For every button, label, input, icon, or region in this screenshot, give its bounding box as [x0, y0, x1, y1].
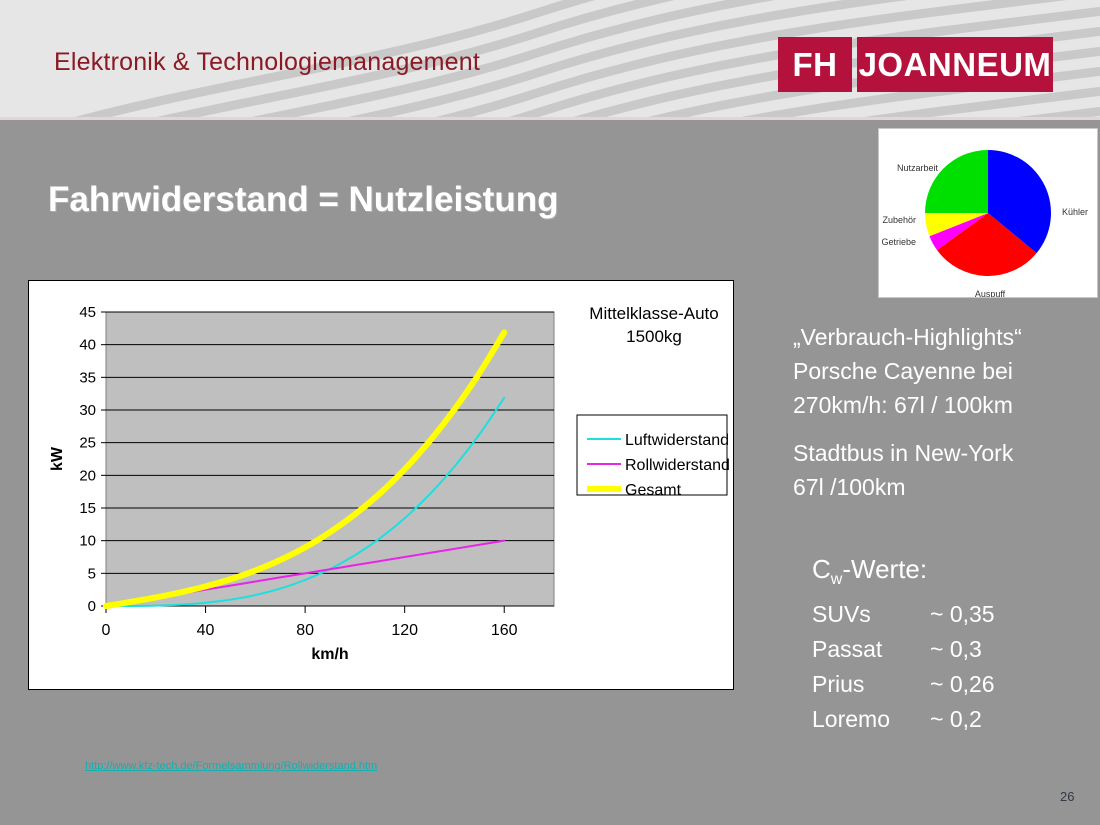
- chart-y-tick-label: 20: [79, 467, 96, 484]
- chart-y-tick-label: 35: [79, 369, 96, 386]
- cw-row-value: ~ 0,3: [930, 632, 982, 667]
- chart-y-tick-label: 10: [79, 533, 96, 550]
- logo-joanneum-box: JOANNEUM: [857, 37, 1053, 92]
- line-chart-card: 051015202530354045 04080120160 kW km/h M…: [28, 280, 734, 690]
- cw-row-name: Prius: [812, 667, 930, 702]
- cw-werte-rows: SUVs~ 0,35Passat~ 0,3Prius~ 0,26Loremo~ …: [812, 597, 1092, 737]
- cw-row-name: Loremo: [812, 702, 930, 737]
- slide-header: Elektronik & Technologiemanagement FH JO…: [0, 0, 1100, 118]
- chart-annotation-line2: 1500kg: [626, 327, 682, 346]
- cw-row-value: ~ 0,35: [930, 597, 995, 632]
- pie-slices: [925, 150, 1051, 276]
- cw-row-name: SUVs: [812, 597, 930, 632]
- highlights-line-3: Stadtbus in New-York: [793, 436, 1093, 470]
- highlights-spacer: [793, 422, 1093, 436]
- header-divider-rule: [0, 117, 1100, 120]
- chart-x-tick-label: 160: [491, 622, 518, 639]
- verbrauch-highlights-block: „Verbrauch-Highlights“ Porsche Cayenne b…: [793, 320, 1093, 504]
- cw-row-value: ~ 0,26: [930, 667, 995, 702]
- pie-label-getriebe: Getriebe: [881, 237, 916, 247]
- pie-label-nutzarbeit: Nutzarbeit: [897, 163, 939, 173]
- fh-joanneum-logo: FH JOANNEUM: [778, 37, 1053, 92]
- pie-chart-card: KühlerAuspuffGetriebeZubehörNutzarbeit: [878, 128, 1098, 298]
- chart-y-tick-label: 5: [88, 565, 96, 582]
- cw-row: Loremo~ 0,2: [812, 702, 1092, 737]
- pie-chart: KühlerAuspuffGetriebeZubehörNutzarbeit: [879, 129, 1097, 297]
- cw-werte-block: Cw-Werte: SUVs~ 0,35Passat~ 0,3Prius~ 0,…: [812, 552, 1092, 737]
- chart-x-tick-label: 120: [391, 622, 418, 639]
- chart-y-tick-label: 25: [79, 435, 96, 452]
- highlights-heading: „Verbrauch-Highlights“: [793, 320, 1093, 354]
- chart-x-tick-label: 0: [102, 622, 111, 639]
- pie-label-auspuff: Auspuff: [975, 289, 1006, 297]
- cw-title-subscript: w: [831, 571, 843, 588]
- line-chart: 051015202530354045 04080120160 kW km/h M…: [29, 281, 733, 689]
- pie-label-kühler: Kühler: [1062, 207, 1088, 217]
- page-title: Fahrwiderstand = Nutzleistung: [48, 180, 558, 220]
- source-link[interactable]: http://www.kfz-tech.de/Formelsammlung/Ro…: [85, 760, 377, 772]
- chart-x-tick-label: 40: [197, 622, 215, 639]
- chart-y-tick-label: 40: [79, 337, 96, 354]
- chart-annotation-line1: Mittelklasse-Auto: [589, 304, 718, 323]
- legend-label-luftwiderstand: Luftwiderstand: [625, 432, 729, 449]
- cw-title-suffix: -Werte:: [842, 554, 927, 584]
- highlights-line-4: 67l /100km: [793, 470, 1093, 504]
- highlights-line-2: 270km/h: 67l / 100km: [793, 388, 1093, 422]
- pie-label-zubehör: Zubehör: [882, 215, 916, 225]
- cw-werte-title: Cw-Werte:: [812, 552, 1092, 597]
- slide-root: Elektronik & Technologiemanagement FH JO…: [0, 0, 1100, 825]
- page-number: 26: [1060, 789, 1074, 804]
- legend-label-gesamt: Gesamt: [625, 482, 682, 499]
- chart-y-tick-label: 0: [88, 598, 96, 615]
- chart-y-tick-label: 45: [79, 304, 96, 321]
- cw-row: Passat~ 0,3: [812, 632, 1092, 667]
- chart-y-tick-label: 15: [79, 500, 96, 517]
- cw-row: SUVs~ 0,35: [812, 597, 1092, 632]
- chart-y-axis-label: kW: [49, 446, 66, 471]
- chart-y-tick-label: 30: [79, 402, 96, 419]
- cw-title-prefix: C: [812, 554, 831, 584]
- chart-x-tick-label: 80: [296, 622, 314, 639]
- header-title: Elektronik & Technologiemanagement: [54, 48, 480, 77]
- cw-row-name: Passat: [812, 632, 930, 667]
- logo-fh-box: FH: [778, 37, 852, 92]
- highlights-line-1: Porsche Cayenne bei: [793, 354, 1093, 388]
- chart-legend: LuftwiderstandRollwiderstandGesamt: [577, 415, 730, 499]
- cw-row: Prius~ 0,26: [812, 667, 1092, 702]
- chart-x-axis-label: km/h: [311, 646, 348, 663]
- cw-row-value: ~ 0,2: [930, 702, 982, 737]
- legend-label-rollwiderstand: Rollwiderstand: [625, 457, 730, 474]
